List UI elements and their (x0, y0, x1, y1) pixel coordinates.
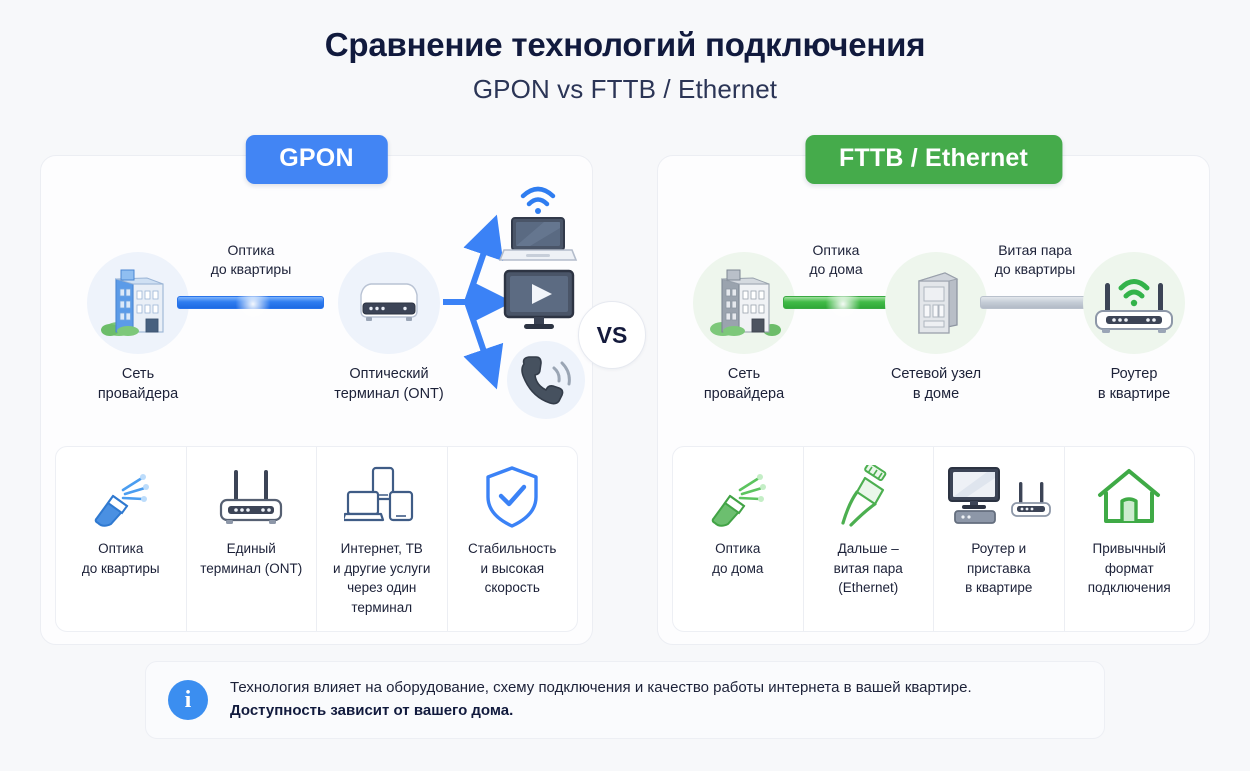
fttb-node-router: Роутер в квартире (1060, 252, 1208, 404)
fiber-cable-icon (89, 461, 153, 533)
multi-devices-icon (344, 461, 420, 533)
fttb-flow-diagram: Сеть провайдера Оптика до дома (658, 156, 1209, 446)
gpon-device-phone (507, 341, 585, 419)
fttb-node-cabinet-label: Сетевой узел в доме (862, 365, 1010, 404)
vs-badge: VS (578, 301, 646, 369)
fttb-card-2-text: Дальше – витая пара (Ethernet) (834, 539, 903, 598)
fttb-card-2: Дальше – витая пара (Ethernet) (804, 447, 935, 631)
tv-router-icon (947, 461, 1051, 533)
provider-building-icon (87, 252, 189, 354)
footer-note: i Технология влияет на оборудование, схе… (145, 661, 1105, 739)
gpon-flow-diagram: Сеть провайдера Оптика до квартиры (41, 156, 592, 446)
gpon-fiber-link (177, 296, 324, 309)
shield-check-icon (483, 461, 541, 533)
router-icon (215, 461, 287, 533)
fttb-card-3: Роутер и приставка в квартире (934, 447, 1065, 631)
fttb-card-3-text: Роутер и приставка в квартире (965, 539, 1032, 598)
gpon-link-caption: Оптика до квартиры (176, 241, 326, 279)
fttb-node-router-label: Роутер в квартире (1060, 365, 1208, 404)
footer-line-1: Технология влияет на оборудование, схему… (230, 677, 972, 700)
ont-terminal-icon (338, 252, 440, 354)
phone-handset-icon (507, 341, 585, 419)
info-icon: i (168, 680, 208, 720)
gpon-card-4-text: Стабильность и высокая скорость (468, 539, 556, 598)
fttb-card-4-text: Привычный формат подключения (1088, 539, 1171, 598)
gpon-card-2: Единый терминал (ONT) (187, 447, 318, 631)
gpon-device-tv (502, 269, 576, 340)
wifi-router-icon (1083, 252, 1185, 354)
page-title: Сравнение технологий подключения (0, 26, 1250, 64)
gpon-card-2-text: Единый терминал (ONT) (200, 539, 302, 578)
fttb-feature-cards: Оптика до дома Д (672, 446, 1195, 632)
ethernet-plug-icon (839, 461, 897, 533)
fttb-panel: FTTB / Ethernet (657, 155, 1210, 645)
header: Сравнение технологий подключения GPON vs… (0, 0, 1250, 105)
fiber-glow-icon (233, 284, 273, 324)
footer-line-2: Доступность зависит от вашего дома. (230, 699, 972, 723)
page-subtitle: GPON vs FTTB / Ethernet (0, 74, 1250, 105)
gpon-card-1: Оптика до квартиры (56, 447, 187, 631)
gpon-panel: GPON (40, 155, 593, 645)
gpon-feature-cards: Оптика до квартиры (55, 446, 578, 632)
footer-text: Технология влияет на оборудование, схему… (230, 677, 972, 724)
fttb-card-1: Оптика до дома (673, 447, 804, 631)
gpon-card-4: Стабильность и высокая скорость (448, 447, 578, 631)
comparison-panels: GPON (40, 155, 1210, 645)
wifi-icon (523, 189, 553, 204)
fiber-cable-icon (706, 461, 770, 533)
gpon-card-1-text: Оптика до квартиры (82, 539, 160, 578)
house-icon (1096, 461, 1162, 533)
gpon-node-provider-label: Сеть провайдера (63, 365, 213, 404)
fiber-glow-icon (823, 284, 863, 324)
gpon-device-laptop (496, 176, 580, 273)
gpon-card-3: Интернет, ТВ и другие услуги через один … (317, 447, 448, 631)
fttb-card-4: Привычный формат подключения (1065, 447, 1195, 631)
gpon-card-3-text: Интернет, ТВ и другие услуги через один … (333, 539, 430, 617)
fttb-node-provider-label: Сеть провайдера (670, 365, 818, 404)
fttb-card-1-text: Оптика до дома (712, 539, 763, 578)
infographic-page: Сравнение технологий подключения GPON vs… (0, 0, 1250, 771)
